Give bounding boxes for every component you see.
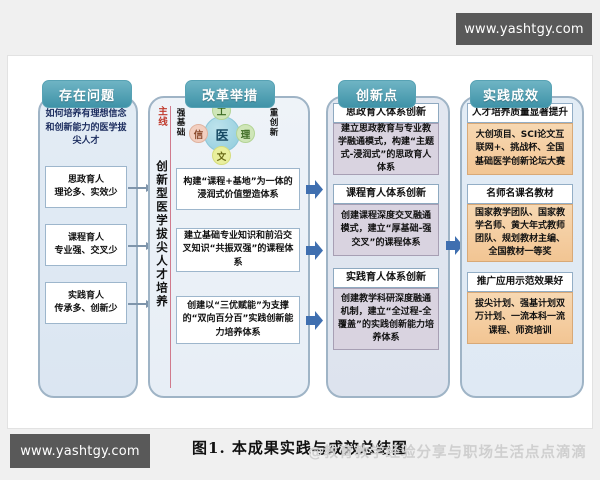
problem-item-3-text: 实践育人 传承多、创新少 xyxy=(54,290,117,316)
outcome-2-body[interactable]: 国家教学团队、国家教学名师、黄大年式教师团队、规划教材主编、全国教材一等奖 xyxy=(467,204,573,262)
arrow-measure-3-to-innovation xyxy=(306,311,323,330)
innovation-3-header[interactable]: 实践育人体系创新 xyxy=(333,268,439,288)
outcome-1-body[interactable]: 大创项目、SCI论文互联网+、挑战杯、全国基础医学创新论坛大赛 xyxy=(467,123,573,175)
problem-statement: 如何培养有理想信念和创新能力的医学拔尖人才 xyxy=(44,108,128,149)
problem-item-2[interactable]: 课程育人 专业强、交叉少 xyxy=(45,224,127,266)
mainline-label: 主线 xyxy=(154,106,168,127)
column-header-outcomes: 实践成效 xyxy=(470,80,552,108)
measures-vertical-label: 创新型医学拔尖人才培养 xyxy=(154,160,170,309)
weibo-watermark: @教育教学经验分享与职场生活点点滴滴 xyxy=(308,441,587,462)
diagram-sheet: 存在问题 改革举措 创新点 实践成效 如何培养有理想信念和创新能力的医学拔尖人才… xyxy=(8,56,592,428)
satellite-humanities: 文 xyxy=(212,146,231,165)
column-header-measures: 改革举措 xyxy=(185,80,275,108)
problem-item-3[interactable]: 实践育人 传承多、创新少 xyxy=(45,282,127,324)
measure-item-2[interactable]: 建立基础专业知识和前沿交叉知识“共振双强”的课程体系 xyxy=(176,228,300,272)
innovation-1-body[interactable]: 建立思政教育与专业教学融通模式，构建“主题式-浸润式”的思政育人体系 xyxy=(333,123,439,175)
arrow-measure-2-to-innovation xyxy=(306,241,323,260)
strengthen-base-label: 强基础 xyxy=(174,108,186,137)
satellite-information: 信 xyxy=(189,124,208,143)
column-header-innovations: 创新点 xyxy=(338,80,416,108)
problem-item-1[interactable]: 思政育人 理论多、实效少 xyxy=(45,166,127,208)
problem-item-2-text: 课程育人 专业强、交叉少 xyxy=(54,232,117,258)
outcome-3-header[interactable]: 推广应用示范效果好 xyxy=(467,272,573,292)
arrow-measure-1-to-innovation xyxy=(306,180,323,199)
measure-item-3[interactable]: 创建以“三优赋能”为支撑的“双向百分百”实践创新能力培养体系 xyxy=(176,296,300,344)
watermark-bottom-left: www.yashtgy.com xyxy=(10,434,150,468)
mainline-divider xyxy=(170,106,171,388)
emphasize-innovation-label: 重创新 xyxy=(267,108,279,137)
column-header-problems: 存在问题 xyxy=(42,80,132,108)
watermark-top-right: www.yashtgy.com xyxy=(456,13,592,45)
outcome-2-header[interactable]: 名师名课名教材 xyxy=(467,184,573,204)
innovation-3-body[interactable]: 创建教学科研深度融通机制，建立“全过程-全覆盖”的实践创新能力培养体系 xyxy=(333,288,439,350)
measure-item-1[interactable]: 构建“课程+基地”为一体的浸润式价值塑造体系 xyxy=(176,168,300,210)
outcome-3-body[interactable]: 拔尖计划、强基计划双万计划、一流本科一流课程、师资培训 xyxy=(467,292,573,344)
innovation-2-body[interactable]: 创建课程深度交叉融通模式，建立“厚基础-强交叉”的课程体系 xyxy=(333,204,439,256)
satellite-science: 理 xyxy=(236,124,255,143)
problem-item-1-text: 思政育人 理论多、实效少 xyxy=(54,174,117,200)
diagram-canvas: 存在问题 改革举措 创新点 实践成效 如何培养有理想信念和创新能力的医学拔尖人才… xyxy=(0,0,600,480)
innovation-2-header[interactable]: 课程育人体系创新 xyxy=(333,184,439,204)
